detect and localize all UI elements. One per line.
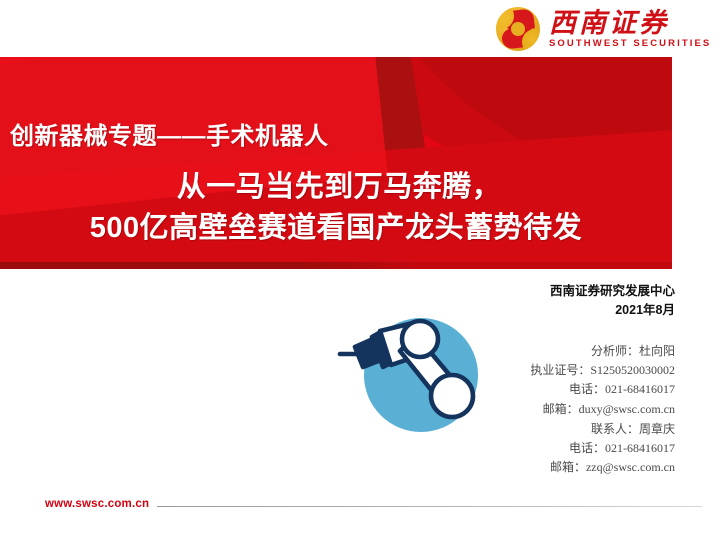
company-logo: 西南证券 SOUTHWEST SECURITIES	[496, 4, 700, 54]
footer-divider	[157, 506, 702, 507]
analyst-license: 执业证号：S1250520030002	[530, 361, 675, 380]
analyst-name: 分析师：杜向阳	[530, 342, 675, 361]
slide-footer: www.swsc.com.cn	[0, 484, 720, 540]
title-line-2: 500亿高壁垒赛道看国产龙头蓄势待发	[0, 208, 672, 249]
footer-website-url[interactable]: www.swsc.com.cn	[45, 498, 149, 510]
publication-date: 2021年8月	[550, 301, 675, 320]
presentation-cover-slide: 西南证券 SOUTHWEST SECURITIES 创新器械专题——手术机器人 …	[0, 0, 720, 540]
title-banner: 创新器械专题——手术机器人 从一马当先到万马奔腾， 500亿高壁垒赛道看国产龙头…	[0, 57, 672, 269]
organization-block: 西南证券研究发展中心 2021年8月	[550, 282, 675, 321]
logo-wordmark: 西南证券 SOUTHWEST SECURITIES	[549, 10, 711, 49]
surgical-robot-arm-icon	[333, 313, 498, 448]
organization-name: 西南证券研究发展中心	[550, 282, 675, 301]
banner-content: 创新器械专题——手术机器人 从一马当先到万马奔腾， 500亿高壁垒赛道看国产龙头…	[0, 57, 672, 269]
analyst-block: 分析师：杜向阳 执业证号：S1250520030002 电话：021-68416…	[530, 342, 675, 419]
logo-chinese-name: 西南证券	[549, 10, 711, 37]
series-subtitle: 创新器械专题——手术机器人	[10, 116, 329, 151]
analyst-phone: 电话：021-68416017	[530, 380, 675, 399]
logo-english-name: SOUTHWEST SECURITIES	[549, 39, 711, 49]
swsc-circular-emblem-icon	[496, 7, 540, 51]
title-line-1: 从一马当先到万马奔腾，	[0, 167, 672, 208]
contact-block: 联系人：周章庆 电话：021-68416017 邮箱：zzq@swsc.com.…	[550, 420, 675, 478]
contact-phone: 电话：021-68416017	[550, 439, 675, 458]
contact-name: 联系人：周章庆	[550, 420, 675, 439]
contact-email: 邮箱：zzq@swsc.com.cn	[550, 458, 675, 477]
page-title: 从一马当先到万马奔腾， 500亿高壁垒赛道看国产龙头蓄势待发	[0, 167, 672, 249]
analyst-email: 邮箱：duxy@swsc.com.cn	[530, 400, 675, 419]
